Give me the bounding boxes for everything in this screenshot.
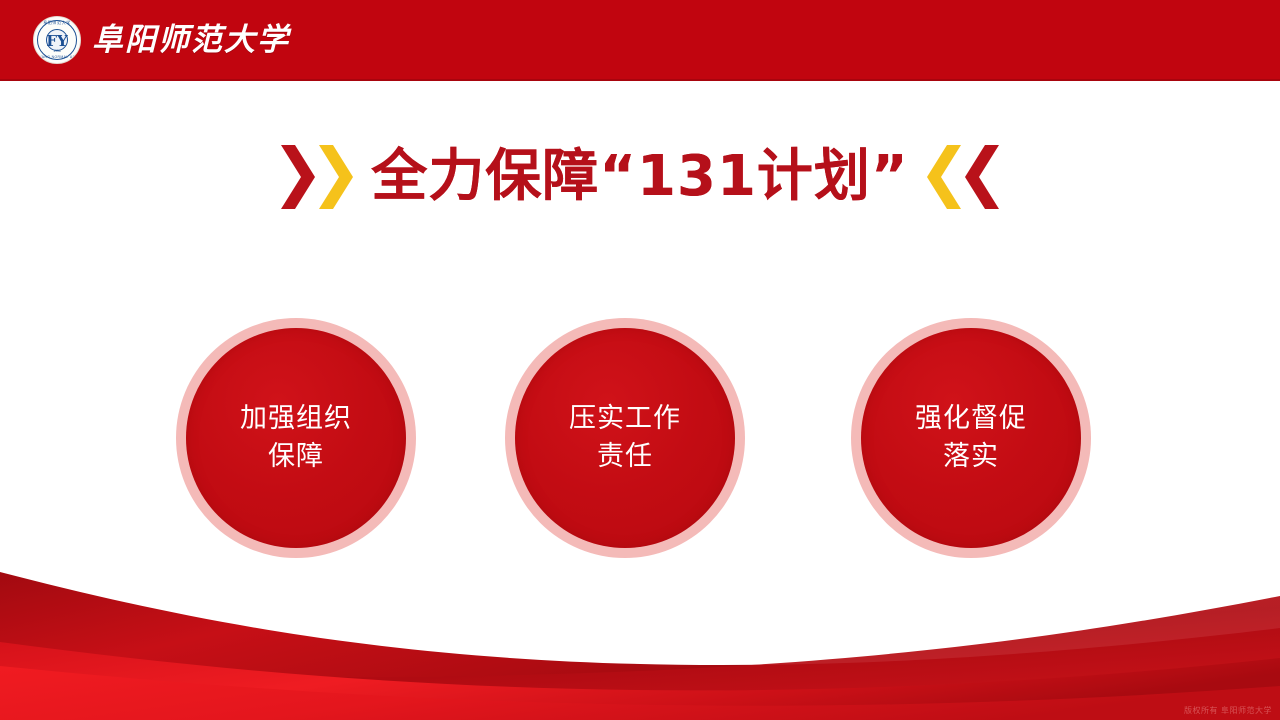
circle-item-2[interactable]: 压实工作 责任 [505,318,745,558]
presentation-slide: 阜阳师范大学 FY 1956 FUYANG NORMAL UNIVERSITY … [0,0,1280,720]
emblem-arc-bottom-label: FUYANG NORMAL UNIVERSITY [34,55,80,59]
watermark-text: 版权所有 阜阳师范大学 [1184,705,1272,717]
emblem-year-label: 1956 [34,49,80,53]
circle-label-1: 加强组织 保障 [240,400,352,476]
chevron-right-gold-icon [317,141,355,213]
circle-item-3[interactable]: 强化督促 落实 [851,318,1091,558]
university-name: 阜阳师范大学 [92,20,290,60]
slide-title-row: 全力保障“131计划” [0,133,1280,221]
university-emblem-icon: 阜阳师范大学 FY 1956 FUYANG NORMAL UNIVERSITY [33,16,81,64]
circle-body-3: 强化督促 落实 [861,328,1081,548]
circle-body-2: 压实工作 责任 [515,328,735,548]
emblem-arc-top-label: 阜阳师范大学 [34,20,80,26]
chevron-left-gold-icon [925,141,963,213]
circle-body-1: 加强组织 保障 [186,328,406,548]
chevron-left-dark-red-icon [963,141,1001,213]
circle-group: 加强组织 保障 压实工作 责任 强化督促 落实 [0,318,1280,558]
chevron-right-dark-red-icon [279,141,317,213]
header-bar: 阜阳师范大学 FY 1956 FUYANG NORMAL UNIVERSITY … [0,0,1280,81]
page-title: 全力保障“131计划” [355,141,925,213]
circle-label-2: 压实工作 责任 [569,400,681,476]
brand-lockup: 阜阳师范大学 FY 1956 FUYANG NORMAL UNIVERSITY … [33,16,290,64]
circle-item-1[interactable]: 加强组织 保障 [176,318,416,558]
right-chevron-group [925,141,1001,213]
circle-label-3: 强化督促 落实 [915,400,1027,476]
left-chevron-group [279,141,355,213]
